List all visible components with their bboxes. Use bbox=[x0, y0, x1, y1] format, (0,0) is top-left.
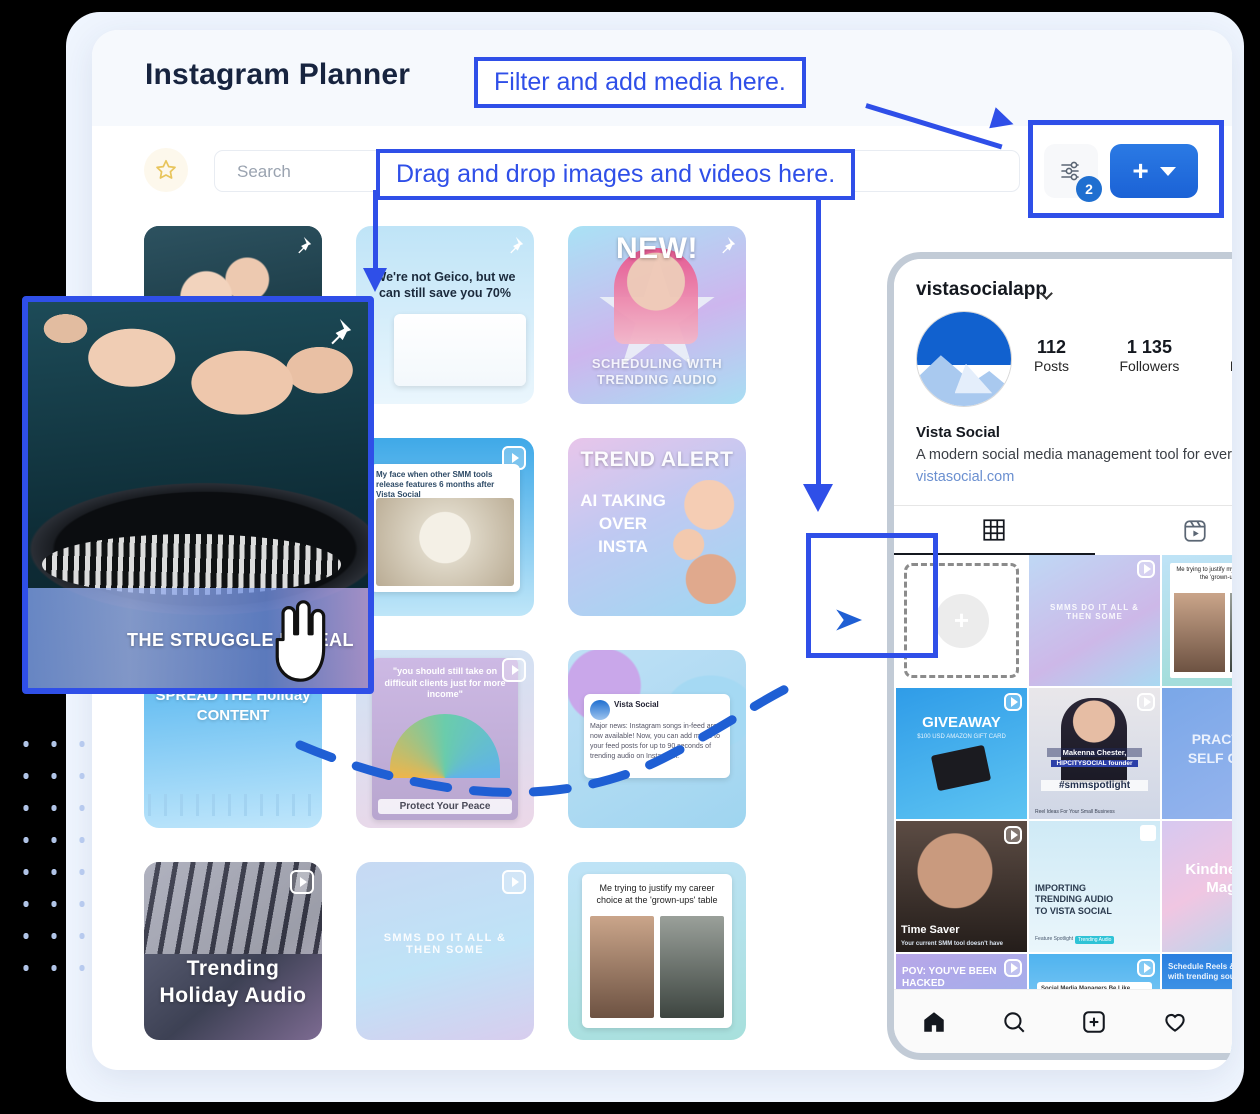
instagram-stats: 112 Posts 1 135 Followers 1 178 Followin… bbox=[1034, 337, 1232, 376]
instagram-grid-cell[interactable]: Kindness is Magic bbox=[1162, 821, 1232, 952]
plus-square-icon[interactable] bbox=[1081, 1009, 1107, 1035]
stat-label: Posts bbox=[1034, 358, 1069, 374]
instagram-grid-cell[interactable]: Me trying to justify my career choice at… bbox=[1162, 555, 1232, 686]
reels-icon bbox=[1182, 518, 1208, 544]
home-icon[interactable] bbox=[921, 1009, 947, 1035]
cell-sublabel: $100 USD AMAZON GIFT CARD bbox=[904, 734, 1019, 740]
instagram-grid-cell[interactable]: SMMS DO IT ALL & THEN SOME bbox=[1029, 555, 1160, 686]
instagram-website-link[interactable]: vistasocial.com bbox=[916, 469, 1014, 485]
reel-icon bbox=[1004, 693, 1022, 711]
pin-icon bbox=[291, 235, 313, 257]
cell-tag: #smmspotlight bbox=[1041, 780, 1148, 791]
cell-label: POV: YOU'VE BEEN HACKED bbox=[902, 966, 1005, 990]
instagram-grid-cell[interactable]: PRACTICE SELF CARE bbox=[1162, 688, 1232, 819]
cell-footer: Reel Ideas For Your Small Business bbox=[1035, 809, 1115, 815]
media-tile[interactable]: My face when other SMM tools release fea… bbox=[356, 438, 534, 616]
callout-dragdrop-leader-left bbox=[373, 190, 378, 272]
search-icon[interactable] bbox=[1001, 1009, 1027, 1035]
screenshot-root: Instagram Planner Search bbox=[0, 0, 1260, 1114]
media-tile-caption: Vista Social bbox=[614, 700, 659, 709]
media-tile[interactable]: Me trying to justify my career choice at… bbox=[568, 862, 746, 1040]
reel-icon bbox=[1137, 693, 1155, 711]
cell-label: PRACTICE SELF CARE bbox=[1172, 730, 1232, 768]
highlight-toolbar-controls bbox=[1028, 120, 1224, 218]
cell-label: Me trying to justify my career choice at… bbox=[1174, 567, 1232, 583]
cell-label: SMMS DO IT ALL & THEN SOME bbox=[1043, 603, 1146, 621]
media-tile-caption: SMMS DO IT ALL & THEN SOME bbox=[378, 932, 512, 956]
media-tile-caption: We're not Geico, but we can still save y… bbox=[366, 270, 524, 301]
stat-label: Following bbox=[1230, 358, 1232, 374]
media-tile-caption: Trending Holiday Audio bbox=[144, 956, 322, 1010]
media-tile[interactable]: We're not Geico, but we can still save y… bbox=[356, 226, 534, 404]
cell-sublabel: Feature Spotlight bbox=[1035, 936, 1073, 942]
page-title: Instagram Planner bbox=[145, 58, 410, 92]
cell-label: Schedule Reels & TikToks with trending s… bbox=[1168, 962, 1232, 983]
cell-label: IMPORTING TRENDING AUDIO TO VISTA SOCIAL bbox=[1035, 883, 1120, 917]
cell-label: Makenna Chester, bbox=[1047, 748, 1142, 757]
pin-icon bbox=[715, 235, 737, 257]
instagram-media-grid: + SMMS DO IT ALL & THEN SOME Me trying t… bbox=[894, 555, 1232, 1060]
avatar[interactable] bbox=[916, 311, 1012, 407]
search-placeholder: Search bbox=[237, 162, 291, 182]
stat-value: 112 bbox=[1034, 337, 1069, 358]
callout-dragdrop-arrowhead-right bbox=[803, 484, 833, 512]
media-tile-subcaption: AI TAKING OVER INSTA bbox=[580, 490, 666, 559]
stat-following: 1 178 Following bbox=[1230, 337, 1232, 376]
media-tile[interactable]: Vista Social Major news: Instagram songs… bbox=[568, 650, 746, 828]
instagram-grid-cell[interactable]: Makenna Chester, HIPCITYSOCIAL founder #… bbox=[1029, 688, 1160, 819]
reel-icon bbox=[1137, 959, 1155, 977]
reel-icon bbox=[1004, 826, 1022, 844]
cell-label: GIVEAWAY bbox=[900, 714, 1023, 731]
reel-icon bbox=[290, 870, 314, 894]
pin-icon bbox=[503, 235, 525, 257]
cell-label: Kindness is Magic bbox=[1170, 861, 1232, 897]
cell-label: Time Saver bbox=[901, 924, 960, 936]
callout-dragdrop: Drag and drop images and videos here. bbox=[376, 149, 855, 200]
instagram-grid-cell[interactable]: Time Saver Your current SMM tool doesn't… bbox=[896, 821, 1027, 952]
instagram-profile-header: vistasocialapp 112 Posts 1 135 bbox=[894, 259, 1232, 505]
cell-sublabel: Your current SMM tool doesn't have bbox=[901, 941, 1022, 947]
pin-icon bbox=[320, 316, 354, 350]
grid-icon bbox=[981, 517, 1007, 543]
heart-icon[interactable] bbox=[1162, 1009, 1188, 1035]
instagram-username[interactable]: vistasocialapp bbox=[916, 279, 1047, 301]
instagram-bottom-nav bbox=[894, 989, 1232, 1053]
dropzone-plus-icon: + bbox=[935, 594, 989, 648]
media-tile-caption: Me trying to justify my career choice at… bbox=[590, 882, 724, 906]
media-tile[interactable]: NEW! SCHEDULING WITH TRENDING AUDIO bbox=[568, 226, 746, 404]
reel-icon bbox=[502, 870, 526, 894]
star-icon bbox=[154, 158, 178, 182]
media-tile[interactable]: SMMS DO IT ALL & THEN SOME bbox=[356, 862, 534, 1040]
drop-cursor-arrow-icon bbox=[826, 598, 870, 642]
callout-filter: Filter and add media here. bbox=[474, 57, 806, 108]
instagram-display-name: Vista Social bbox=[916, 424, 1000, 441]
instagram-tabs bbox=[894, 505, 1232, 555]
stat-posts: 112 Posts bbox=[1034, 337, 1069, 376]
favorites-button[interactable] bbox=[144, 148, 188, 192]
reel-icon bbox=[1137, 560, 1155, 578]
media-tile-caption: "you should still take on difficult clie… bbox=[380, 666, 510, 701]
instagram-preview-phone: vistasocialapp 112 Posts 1 135 bbox=[887, 252, 1232, 1060]
hand-cursor-icon bbox=[262, 596, 336, 686]
media-tile-caption: My face when other SMM tools release fea… bbox=[376, 470, 514, 500]
reel-icon bbox=[502, 658, 526, 682]
media-tile[interactable]: "you should still take on difficult clie… bbox=[356, 650, 534, 828]
stat-label: Followers bbox=[1119, 358, 1179, 374]
instagram-grid-cell[interactable]: IMPORTING TRENDING AUDIO TO VISTA SOCIAL… bbox=[1029, 821, 1160, 952]
media-tile-caption: TREND ALERT bbox=[568, 448, 746, 472]
media-tile[interactable]: TREND ALERT AI TAKING OVER INSTA bbox=[568, 438, 746, 616]
media-tile-subcaption: Major news: Instagram songs in-feed are … bbox=[590, 722, 724, 763]
reel-icon bbox=[502, 446, 526, 470]
instagram-bio: A modern social media management tool fo… bbox=[916, 447, 1232, 463]
media-tile-subcaption: Protect Your Peace bbox=[378, 799, 512, 814]
tab-reels[interactable] bbox=[1095, 506, 1233, 555]
instagram-grid-cell[interactable]: GIVEAWAY $100 USD AMAZON GIFT CARD bbox=[896, 688, 1027, 819]
stat-value: 1 178 bbox=[1230, 337, 1232, 358]
reel-icon bbox=[1004, 959, 1022, 977]
cell-tag: Trending Audio bbox=[1075, 936, 1114, 944]
stat-value: 1 135 bbox=[1119, 337, 1179, 358]
cell-sublabel: HIPCITYSOCIAL founder bbox=[1051, 760, 1138, 767]
media-tile[interactable]: Trending Holiday Audio bbox=[144, 862, 322, 1040]
stat-followers: 1 135 Followers bbox=[1119, 337, 1179, 376]
media-tile-subcaption: SCHEDULING WITH TRENDING AUDIO bbox=[568, 356, 746, 389]
callout-dragdrop-arrowhead-left bbox=[363, 268, 387, 292]
callout-dragdrop-leader-right bbox=[816, 190, 821, 488]
